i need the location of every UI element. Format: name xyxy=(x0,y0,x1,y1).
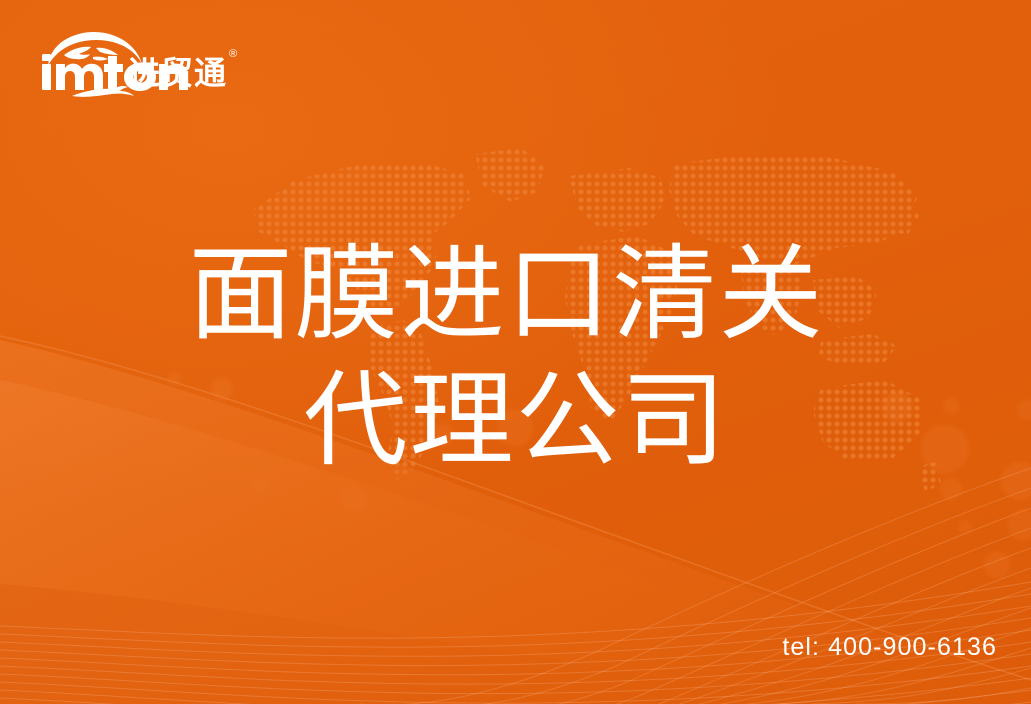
headline-line-1: 面膜进口清关 xyxy=(0,232,1031,358)
contact-telephone[interactable]: tel: 400-900-6136 xyxy=(782,633,997,662)
headline-line-2: 代理公司 xyxy=(0,358,1031,484)
registered-mark: ® xyxy=(229,48,237,60)
brand-chinese-lockup: 进贸通® xyxy=(128,48,237,94)
page-title: 面膜进口清关 代理公司 xyxy=(0,232,1031,484)
poster-canvas: 进贸通® 面膜进口清关 代理公司 tel: 400-900-6136 xyxy=(0,0,1031,704)
stripe-fan xyxy=(0,454,1031,704)
brand-chinese-label: 进贸通 xyxy=(128,55,227,91)
